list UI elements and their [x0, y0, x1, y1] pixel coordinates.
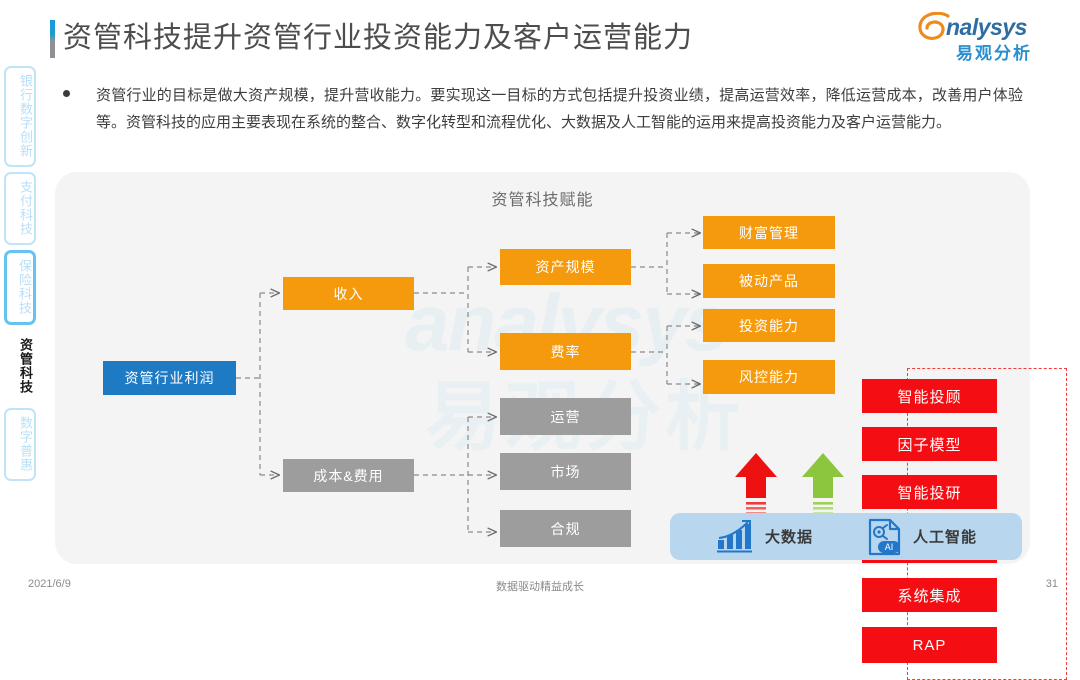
node-level3-3[interactable]: 市场 [500, 453, 631, 490]
sidebar-item-2[interactable]: 保险科技 [4, 250, 36, 325]
red-up-arrow-icon [733, 451, 779, 517]
sidebar-item-label: 数字普惠 [17, 416, 34, 472]
node-label: 运营 [551, 407, 581, 427]
node-level3-1[interactable]: 费率 [500, 333, 631, 370]
node-label: 费率 [551, 342, 581, 362]
node-level2-1[interactable]: 成本&费用 [283, 459, 414, 492]
sidebar-item-label: 保险科技 [16, 259, 33, 315]
node-level3-2[interactable]: 运营 [500, 398, 631, 435]
title-accent-bar [50, 20, 55, 58]
node-level2-0[interactable]: 收入 [283, 277, 414, 310]
node-label: 智能投顾 [897, 386, 961, 407]
node-capability-5[interactable]: RAP [862, 627, 997, 663]
node-level4-3[interactable]: 风控能力 [703, 360, 835, 394]
node-level3-4[interactable]: 合规 [500, 510, 631, 547]
diagram-card: 资管科技赋能 analysys 易观分析 [55, 172, 1030, 564]
node-level4-0[interactable]: 财富管理 [703, 216, 835, 249]
svg-text:AI: AI [885, 542, 894, 552]
node-level3-0[interactable]: 资产规模 [500, 249, 631, 285]
sidebar-item-0[interactable]: 银行数字创新 [4, 66, 36, 167]
node-label: 合规 [551, 519, 581, 539]
node-label: RAP [913, 637, 947, 654]
sidebar-item-3[interactable]: 资管科技 [4, 330, 36, 403]
analysys-logo: nalysys 易观分析 [918, 10, 1058, 62]
green-up-arrow-icon [800, 451, 846, 517]
tech-label: 人工智能 [913, 526, 977, 547]
node-capability-0[interactable]: 智能投顾 [862, 379, 997, 413]
sidebar-item-label: 支付科技 [17, 180, 34, 236]
page-title: 资管科技提升资管行业投资能力及客户运营能力 [63, 18, 693, 58]
logo-wordmark: nalysys [946, 14, 1027, 41]
page-footer: 2021/6/9 数据驱动精益成长 31 [0, 578, 1080, 600]
sidebar-item-4[interactable]: 数字普惠 [4, 408, 36, 481]
node-label: 投资能力 [739, 316, 799, 336]
node-label: 成本&费用 [313, 466, 383, 486]
sidebar-item-label: 资管科技 [17, 338, 34, 394]
sidebar-item-label: 银行数字创新 [17, 74, 34, 158]
tech-item-ai[interactable]: AI 人工智能 [867, 513, 977, 560]
summary-text: 资管行业的目标是做大资产规模，提升营收能力。要实现这一目标的方式包括提升投资业绩… [96, 82, 1023, 136]
node-label: 市场 [551, 462, 581, 482]
section-tabs-sidebar[interactable]: 银行数字创新 支付科技 保险科技 资管科技 数字普惠 [4, 66, 40, 486]
ai-document-icon: AI [867, 517, 903, 557]
node-label: 资产规模 [536, 257, 596, 277]
node-level4-2[interactable]: 投资能力 [703, 309, 835, 342]
node-label: 财富管理 [739, 223, 799, 243]
sidebar-item-1[interactable]: 支付科技 [4, 172, 36, 245]
enabling-tech-bar: 大数据 AI 人工智能 [670, 513, 1022, 560]
node-label: 被动产品 [739, 271, 799, 291]
logo-chinese-name: 易观分析 [956, 39, 1032, 64]
node-label: 收入 [334, 284, 364, 304]
page-header: 资管科技提升资管行业投资能力及客户运营能力 nalysys 易观分析 [0, 0, 1080, 70]
tech-label: 大数据 [765, 526, 813, 547]
footer-page-number: 31 [1046, 578, 1058, 590]
tech-item-bigdata[interactable]: 大数据 [715, 513, 813, 560]
summary-bullet: 资管行业的目标是做大资产规模，提升营收能力。要实现这一目标的方式包括提升投资业绩… [63, 82, 1023, 136]
node-label: 资管行业利润 [125, 368, 215, 388]
footer-slogan: 数据驱动精益成长 [0, 578, 1080, 594]
bullet-dot-icon [63, 90, 70, 97]
node-capability-1[interactable]: 因子模型 [862, 427, 997, 461]
node-label: 因子模型 [897, 434, 961, 455]
node-label: 风控能力 [739, 367, 799, 387]
node-level4-1[interactable]: 被动产品 [703, 264, 835, 298]
node-capability-2[interactable]: 智能投研 [862, 475, 997, 509]
node-label: 智能投研 [897, 482, 961, 503]
bar-chart-growth-icon [715, 520, 755, 554]
node-root[interactable]: 资管行业利润 [103, 361, 236, 395]
